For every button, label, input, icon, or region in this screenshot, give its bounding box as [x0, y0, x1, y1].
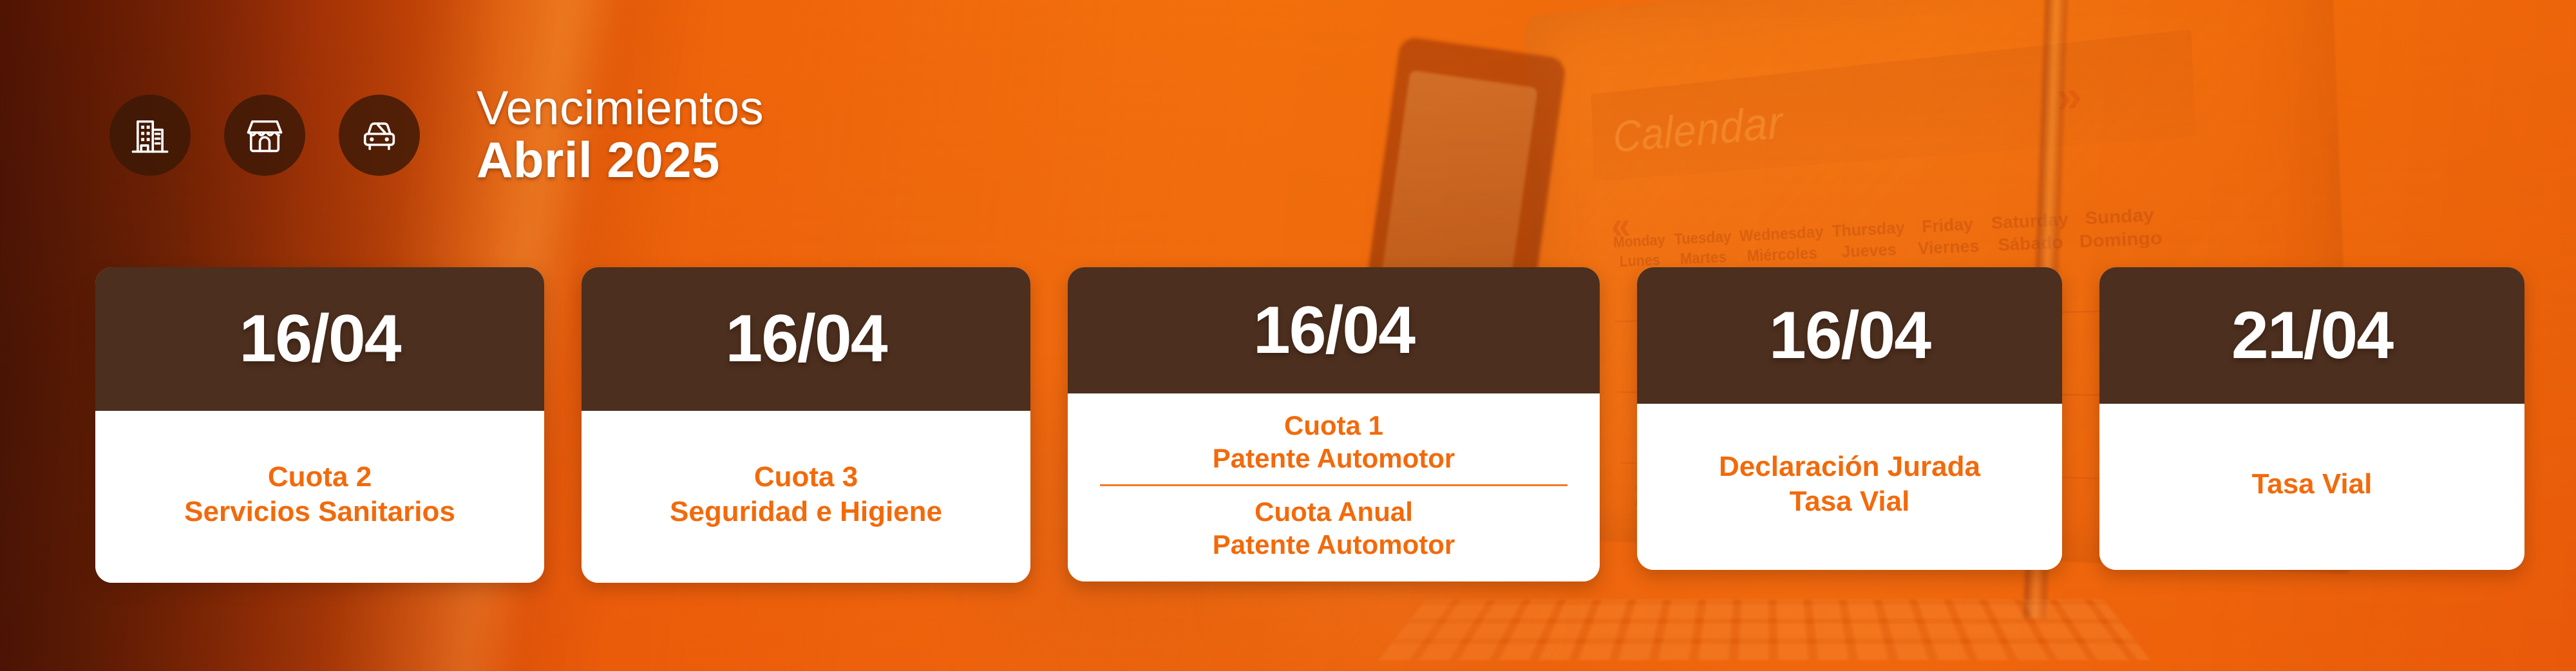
card-section: Tasa Vial	[2121, 457, 2503, 512]
due-date-card[interactable]: 16/04 Cuota 2 Servicios Sanitarios	[95, 267, 544, 583]
due-date-card[interactable]: 21/04 Tasa Vial	[2099, 267, 2524, 570]
card-date: 16/04	[1253, 292, 1414, 369]
due-date-card[interactable]: 16/04 Declaración Jurada Tasa Vial	[1637, 267, 2062, 570]
card-line: Cuota Anual	[1084, 495, 1583, 528]
card-line: Servicios Sanitarios	[117, 495, 522, 529]
card-section: Declaración Jurada Tasa Vial	[1659, 439, 2040, 529]
card-section: Cuota 2 Servicios Sanitarios	[117, 449, 522, 539]
building-icon-badge[interactable]	[109, 95, 191, 176]
card-line: Tasa Vial	[2121, 467, 2503, 502]
card-date: 16/04	[725, 301, 886, 377]
card-date-header: 16/04	[1637, 267, 2062, 404]
card-body: Cuota 3 Seguridad e Higiene	[582, 411, 1030, 583]
car-icon	[357, 113, 401, 157]
banner-title-top: Vencimientos	[477, 84, 764, 132]
card-line: Cuota 1	[1084, 409, 1583, 442]
card-section: Cuota Anual Patente Automotor	[1084, 489, 1583, 567]
store-icon-badge[interactable]	[224, 95, 305, 176]
card-line: Declaración Jurada	[1659, 449, 2040, 484]
due-dates-row: 16/04 Cuota 2 Servicios Sanitarios 16/04…	[95, 267, 2524, 583]
card-date-header: 16/04	[582, 267, 1030, 411]
due-date-card[interactable]: 16/04 Cuota 3 Seguridad e Higiene	[582, 267, 1030, 583]
title-block: Vencimientos Abril 2025	[477, 84, 764, 186]
card-section: Cuota 3 Seguridad e Higiene	[603, 449, 1009, 539]
card-line: Tasa Vial	[1659, 484, 2040, 519]
building-icon	[128, 113, 172, 157]
car-icon-badge[interactable]	[339, 95, 420, 176]
card-date: 16/04	[1769, 298, 1930, 374]
card-body: Tasa Vial	[2099, 404, 2524, 570]
card-line: Patente Automotor	[1084, 528, 1583, 561]
card-date: 16/04	[239, 301, 400, 377]
due-date-card[interactable]: 16/04 Cuota 1 Patente Automotor Cuota An…	[1068, 267, 1600, 581]
card-date: 21/04	[2231, 298, 2392, 374]
card-date-header: 16/04	[95, 267, 544, 411]
card-line: Seguridad e Higiene	[603, 495, 1009, 529]
card-line: Patente Automotor	[1084, 442, 1583, 475]
card-line: Cuota 3	[603, 460, 1009, 495]
card-line: Cuota 2	[117, 460, 522, 495]
banner-header: Vencimientos Abril 2025	[109, 84, 764, 186]
banner-title-bottom: Abril 2025	[477, 135, 764, 186]
card-body: Declaración Jurada Tasa Vial	[1637, 404, 2062, 570]
category-icons	[109, 95, 420, 176]
card-body: Cuota 2 Servicios Sanitarios	[95, 411, 544, 583]
card-body: Cuota 1 Patente Automotor Cuota Anual Pa…	[1068, 393, 1600, 581]
card-date-header: 21/04	[2099, 267, 2524, 404]
card-section: Cuota 1 Patente Automotor	[1084, 402, 1583, 481]
card-date-header: 16/04	[1068, 267, 1600, 393]
vencimientos-banner: Calendar » « Monday Lunes Tuesday Martes…	[0, 0, 2576, 671]
card-section-divider	[1100, 484, 1567, 486]
store-icon	[243, 113, 287, 157]
